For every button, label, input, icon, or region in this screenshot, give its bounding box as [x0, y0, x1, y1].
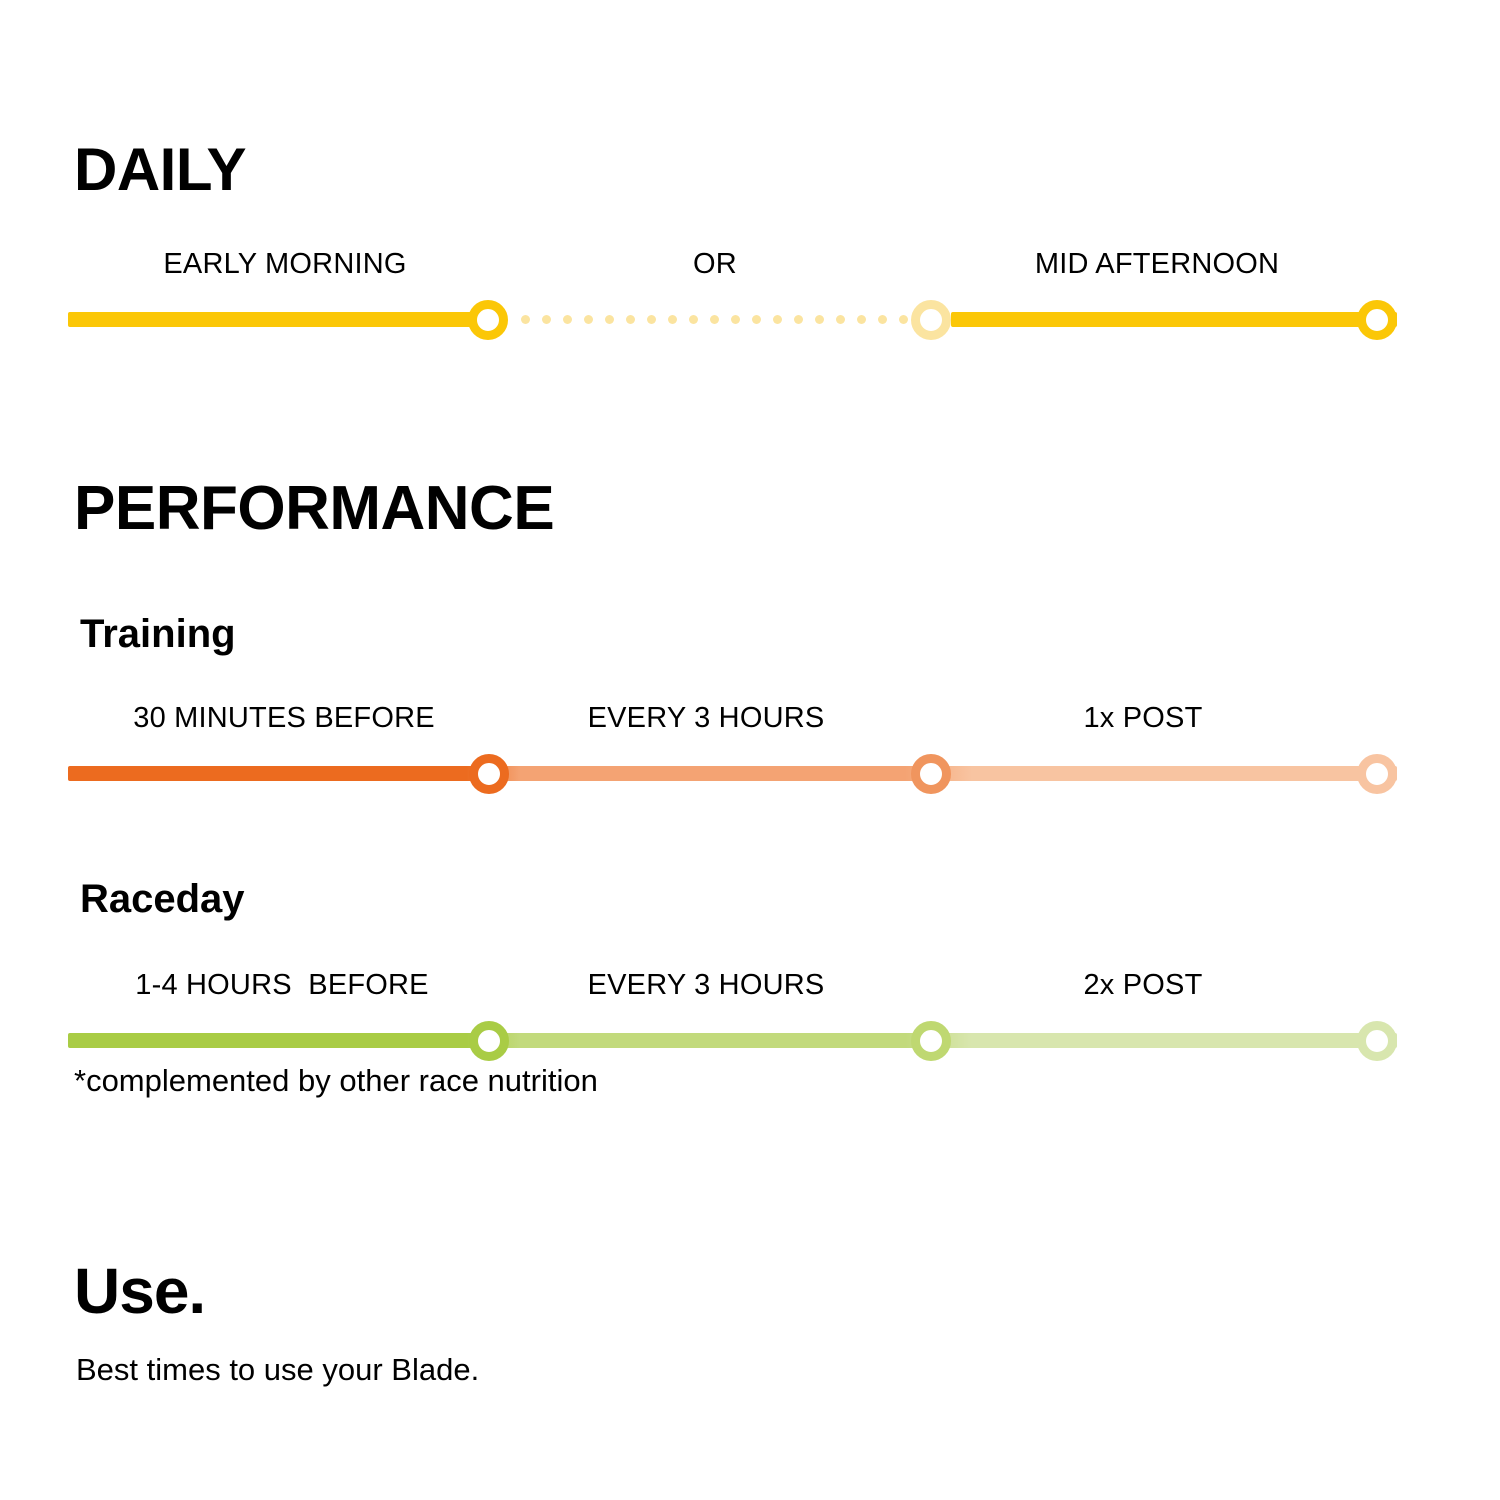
use-section-subtitle: Best times to use your Blade. [76, 1354, 479, 1385]
daily-label-2: MID AFTERNOON [1035, 247, 1279, 282]
daily-dot [857, 315, 866, 324]
daily-segment-2 [951, 312, 1397, 327]
daily-dot [899, 315, 908, 324]
raceday-label-2: 2x POST [1083, 968, 1202, 1003]
raceday-gradient-line [68, 1033, 1397, 1048]
daily-section-title: DAILY [74, 140, 246, 200]
daily-label-1: OR [693, 247, 737, 282]
raceday-subsection-title: Raceday [80, 879, 245, 919]
daily-dot [668, 315, 677, 324]
daily-node-1[interactable] [911, 300, 951, 340]
daily-dot [584, 315, 593, 324]
training-node-0[interactable] [469, 754, 509, 794]
infographic-page: DAILY EARLY MORNING OR MID AFTERNOON PER… [0, 0, 1500, 1500]
raceday-node-2[interactable] [1357, 1021, 1397, 1061]
training-timeline-labels: 30 MINUTES BEFORE EVERY 3 HOURS 1x POST [0, 701, 1500, 745]
raceday-timeline-track [0, 1033, 1500, 1048]
performance-section-title: PERFORMANCE [74, 478, 554, 540]
daily-timeline-labels: EARLY MORNING OR MID AFTERNOON [0, 247, 1500, 291]
daily-dot [878, 315, 887, 324]
daily-dot [626, 315, 635, 324]
training-gradient-line [68, 766, 1397, 781]
raceday-footnote: *complemented by other race nutrition [74, 1065, 598, 1096]
daily-dot [794, 315, 803, 324]
daily-dot [836, 315, 845, 324]
daily-dot [689, 315, 698, 324]
raceday-timeline: 1-4 HOURS BEFORE EVERY 3 HOURS 2x POST *… [0, 968, 1500, 1078]
use-section-title: Use. [74, 1259, 205, 1323]
raceday-node-0[interactable] [469, 1021, 509, 1061]
daily-timeline: EARLY MORNING OR MID AFTERNOON [0, 247, 1500, 357]
daily-dot [563, 315, 572, 324]
training-label-1: EVERY 3 HOURS [588, 701, 825, 736]
training-label-0: 30 MINUTES BEFORE [133, 701, 435, 736]
daily-timeline-track [0, 312, 1500, 327]
raceday-label-0: 1-4 HOURS BEFORE [135, 968, 428, 1003]
daily-dot [647, 315, 656, 324]
daily-dot [605, 315, 614, 324]
daily-dot [752, 315, 761, 324]
raceday-label-1: EVERY 3 HOURS [588, 968, 825, 1003]
training-node-1[interactable] [911, 754, 951, 794]
daily-dot [815, 315, 824, 324]
training-timeline: 30 MINUTES BEFORE EVERY 3 HOURS 1x POST [0, 701, 1500, 811]
daily-node-0[interactable] [468, 300, 508, 340]
daily-dot [710, 315, 719, 324]
training-label-2: 1x POST [1083, 701, 1202, 736]
raceday-node-1[interactable] [911, 1021, 951, 1061]
daily-dot [773, 315, 782, 324]
daily-node-2[interactable] [1357, 300, 1397, 340]
training-subsection-title: Training [80, 614, 236, 654]
daily-segment-0 [68, 312, 488, 327]
training-timeline-track [0, 766, 1500, 781]
daily-dot [542, 315, 551, 324]
daily-dot [731, 315, 740, 324]
raceday-timeline-labels: 1-4 HOURS BEFORE EVERY 3 HOURS 2x POST [0, 968, 1500, 1012]
daily-segment-1 [508, 312, 911, 327]
daily-label-0: EARLY MORNING [163, 247, 406, 282]
daily-dot [521, 315, 530, 324]
training-node-2[interactable] [1357, 754, 1397, 794]
